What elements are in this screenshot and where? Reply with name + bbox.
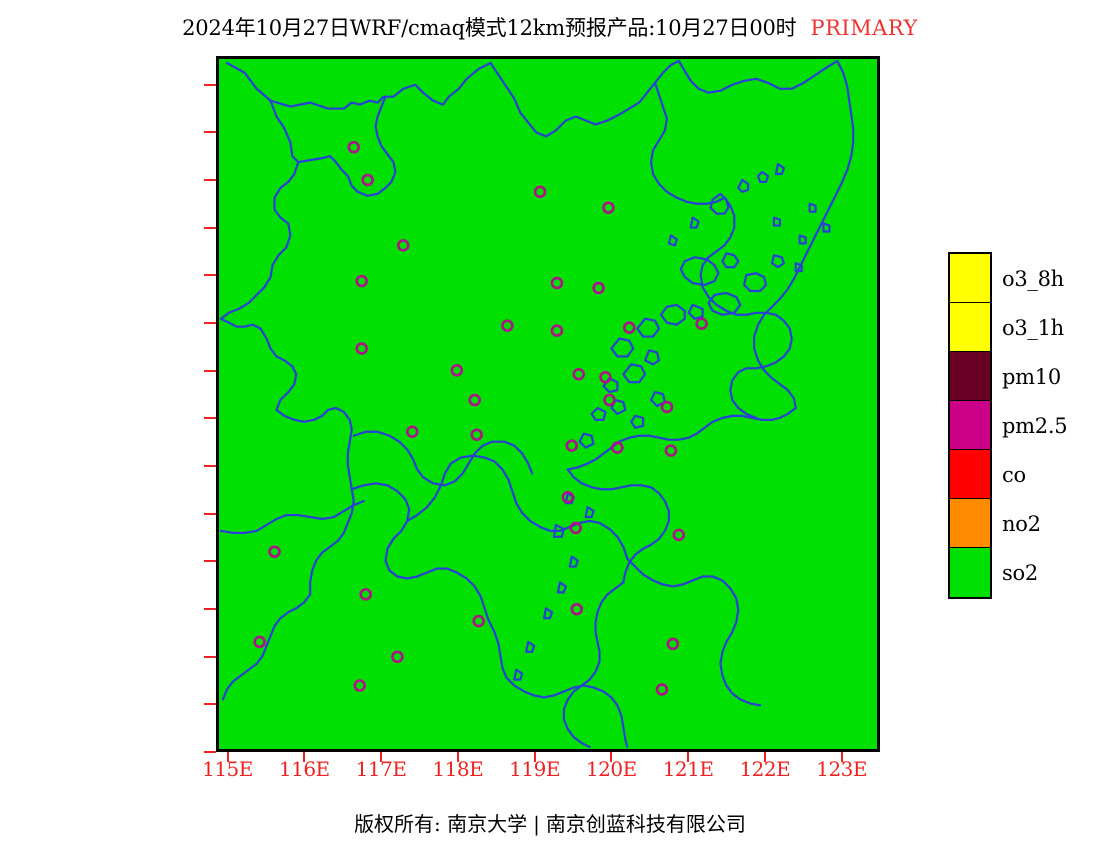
lon-tick-119E — [534, 752, 536, 762]
legend-label-pm10: pm10 — [1002, 365, 1061, 389]
primary-tag: PRIMARY — [810, 16, 917, 40]
lon-tick-123E — [841, 752, 843, 762]
legend-item-pm2-5[interactable]: pm2.5 — [950, 401, 990, 450]
lat-tick-33N — [204, 227, 216, 229]
legend-item-pm10[interactable]: pm10 — [950, 352, 990, 401]
legend-label-co: co — [1002, 463, 1026, 487]
legend-label-so2: so2 — [1002, 561, 1038, 585]
lat-tick-32.5N — [204, 274, 216, 276]
lat-tick-28.5N — [204, 656, 216, 658]
footer-company-text: 南京创蓝科技有限公司 — [546, 812, 746, 836]
lat-tick-34.5N — [204, 84, 216, 86]
page-title: 2024年10月27日WRF/cmaq模式12km预报产品:10月27日00时P… — [0, 12, 1100, 42]
lon-tick-121E — [687, 752, 689, 762]
title-text: 2024年10月27日WRF/cmaq模式12km预报产品:10月27日00时 — [182, 16, 796, 40]
footer-copyright-text: 版权所有: 南京大学 — [354, 812, 527, 836]
lat-tick-29N — [204, 608, 216, 610]
station-markers — [255, 142, 707, 694]
province-boundaries — [221, 61, 853, 747]
lon-tick-120E — [610, 752, 612, 762]
legend-item-no2[interactable]: no2 — [950, 499, 990, 548]
legend-swatch-pm10 — [950, 352, 990, 401]
legend-label-o3-1h: o3_1h — [1002, 316, 1064, 340]
lat-tick-30N — [204, 513, 216, 515]
lat-tick-27.5N — [204, 751, 216, 753]
legend-label-pm2-5: pm2.5 — [1002, 414, 1067, 438]
legend-swatch-so2 — [950, 548, 990, 597]
legend-item-o3-1h[interactable]: o3_1h — [950, 303, 990, 352]
lat-tick-31N — [204, 417, 216, 419]
legend-item-so2[interactable]: so2 — [950, 548, 990, 597]
lat-tick-32N — [204, 322, 216, 324]
pollutant-legend[interactable]: o3_8ho3_1hpm10pm2.5cono2so2 — [948, 252, 992, 599]
legend-label-no2: no2 — [1002, 512, 1041, 536]
map-plot-area[interactable] — [216, 56, 880, 752]
lat-tick-28N — [204, 703, 216, 705]
footer-separator: | — [527, 812, 546, 836]
lon-tick-118E — [457, 752, 459, 762]
lat-tick-33.5N — [204, 179, 216, 181]
legend-swatch-pm2-5 — [950, 401, 990, 450]
legend-item-o3-8h[interactable]: o3_8h — [950, 254, 990, 303]
legend-label-o3-8h: o3_8h — [1002, 267, 1064, 291]
legend-swatch-no2 — [950, 499, 990, 548]
lat-tick-29.5N — [204, 560, 216, 562]
lon-tick-115E — [227, 752, 229, 762]
lon-tick-116E — [303, 752, 305, 762]
legend-swatch-o3-1h — [950, 303, 990, 352]
lat-tick-34N — [204, 131, 216, 133]
lat-tick-31.5N — [204, 370, 216, 372]
lon-tick-117E — [380, 752, 382, 762]
map-canvas — [219, 59, 877, 749]
legend-item-co[interactable]: co — [950, 450, 990, 499]
legend-swatch-o3-8h — [950, 254, 990, 303]
lon-tick-122E — [764, 752, 766, 762]
footer-copyright: 版权所有: 南京大学|南京创蓝科技有限公司 — [0, 808, 1100, 837]
legend-swatch-co — [950, 450, 990, 499]
lat-tick-30.5N — [204, 465, 216, 467]
